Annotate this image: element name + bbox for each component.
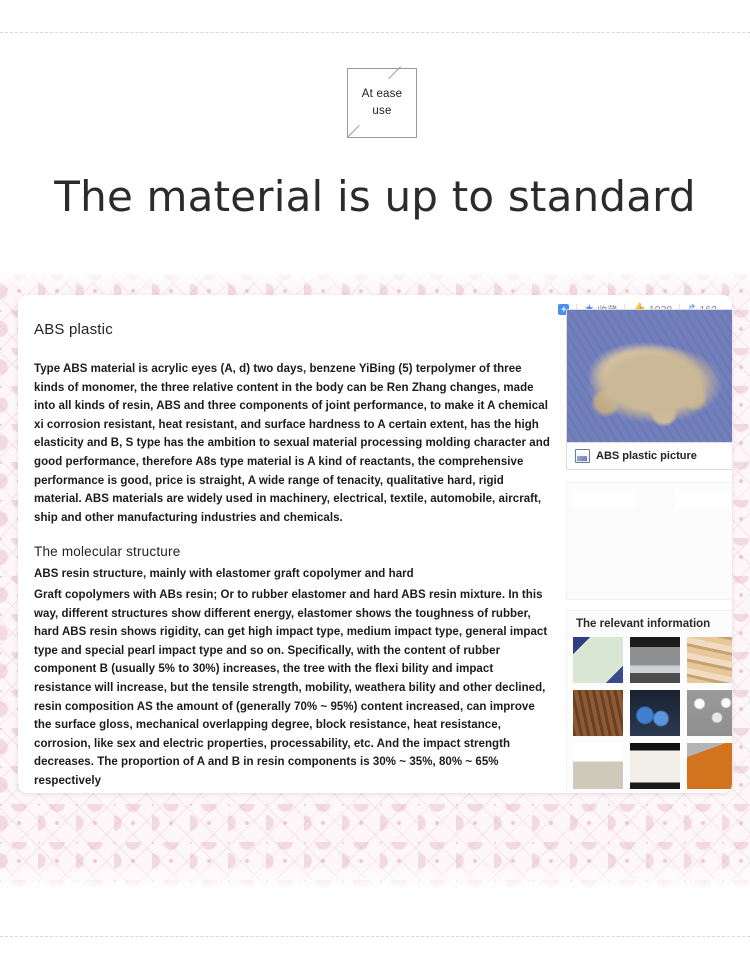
image-icon (575, 449, 590, 463)
ad-slot-right (675, 490, 732, 508)
article-body: ABS plastic Type ABS material is acrylic… (34, 321, 550, 790)
badge-line-1: At ease (362, 86, 402, 103)
related-information-panel: The relevant information (566, 610, 732, 793)
at-ease-use-badge: At ease use (347, 68, 417, 138)
badge-line-2: use (372, 103, 391, 120)
figure-caption-text: ABS plastic picture (596, 450, 697, 462)
page-title: The material is up to standard (0, 172, 750, 221)
top-divider (0, 32, 750, 33)
article-paragraph-3: Graft copolymers with ABs resin; Or to r… (34, 586, 550, 791)
figure-caption: ABS plastic picture (567, 442, 732, 469)
ad-slot-left (573, 490, 635, 508)
page-root: At ease use The material is up to standa… (0, 0, 750, 970)
green-board-thumb[interactable] (573, 637, 623, 683)
abs-plastic-photo (567, 310, 732, 442)
article-section-title: The molecular structure (34, 544, 550, 559)
bottom-divider (0, 936, 750, 937)
stacked-boards-thumb[interactable] (687, 637, 732, 683)
grey-granule-thumb[interactable] (687, 690, 732, 736)
related-thumbnail-grid (573, 637, 732, 789)
sidebar-rail: ABS plastic picture The relevant informa… (566, 309, 732, 793)
article-card: + ★ 收藏 👍 1928 ↱ 162 ABS plastic Type ABS… (18, 295, 732, 793)
pattern-fade-top (0, 272, 750, 288)
article-paragraph-1: Type ABS material is acrylic eyes (A, d)… (34, 360, 550, 527)
blue-rolls-thumb[interactable] (630, 690, 680, 736)
black-white-panel-thumb[interactable] (630, 743, 680, 789)
orange-panel-thumb[interactable] (687, 743, 732, 789)
factory-interior-thumb[interactable] (630, 637, 680, 683)
pattern-fade-bottom (0, 866, 750, 890)
figure-card[interactable]: ABS plastic picture (566, 309, 732, 470)
badge-text: At ease use (347, 68, 417, 138)
wood-decking-thumb[interactable] (573, 690, 623, 736)
beige-panel-thumb[interactable] (573, 743, 623, 789)
ad-placeholder[interactable] (566, 482, 732, 600)
related-title: The relevant information (576, 618, 732, 630)
article-paragraph-2: ABS resin structure, mainly with elastom… (34, 565, 550, 584)
article-title: ABS plastic (34, 321, 550, 338)
